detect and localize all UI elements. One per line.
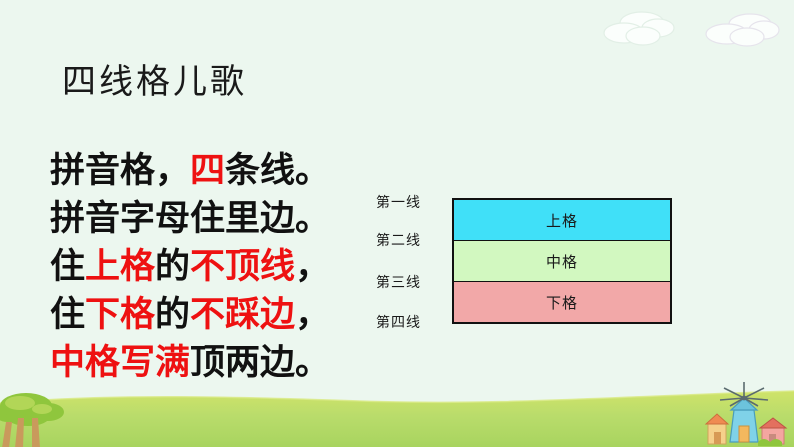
poem-segment: 顶两边。 [190,343,330,382]
grass-strip [0,387,794,447]
grid-line-label-2: 第二线 [376,234,421,250]
poem-segment: ， [295,247,330,286]
grid-line-label-3: 第三线 [376,276,421,292]
slide-canvas: 四线格儿歌 拼音格，四条线。 拼音字母住里边。 住上格的不顶线， 住下格的不踩边… [0,0,794,447]
band-cell-middle: 中格 [453,241,671,282]
band-cell-lower: 下格 [453,282,671,324]
poem-segment-highlight: 下格 [85,295,155,334]
poem-line-5: 中格写满顶两边。 [50,339,390,387]
poem-line-4: 住下格的不踩边， [50,291,390,339]
poem-segment-highlight: 中格写满 [50,343,190,382]
poem-segment: 住 [50,247,85,286]
grid-bands-table: 上格 中格 下格 [452,198,672,324]
poem-segment-highlight: 四 [190,151,225,190]
poem-segment: ， [295,295,330,334]
grid-line-label-1: 第一线 [376,196,421,212]
poem-block: 拼音格，四条线。 拼音字母住里边。 住上格的不顶线， 住下格的不踩边， 中格写满… [50,147,390,387]
tree-illustration [0,382,88,447]
cloud-icon-left [598,6,682,55]
poem-segment: 的 [155,247,190,286]
table-row: 中格 [453,241,671,282]
grid-line-label-4: 第四线 [376,316,421,332]
windmill-village-illustration [700,376,794,447]
table-row: 上格 [453,199,671,241]
cloud-icon-right [700,8,784,57]
page-title: 四线格儿歌 [62,63,247,103]
poem-segment: 住 [50,295,85,334]
table-row: 下格 [453,282,671,324]
poem-line-3: 住上格的不顶线， [50,243,390,291]
poem-segment: 拼音字母住里边。 [50,199,330,238]
poem-line-1: 拼音格，四条线。 [50,147,390,195]
poem-segment-highlight: 不踩边 [190,295,295,334]
poem-segment: 拼音格， [50,151,190,190]
poem-segment: 的 [155,295,190,334]
poem-segment-highlight: 上格 [85,247,155,286]
poem-segment-highlight: 不顶线 [190,247,295,286]
poem-line-2: 拼音字母住里边。 [50,195,390,243]
four-line-grid-diagram: 第一线 第二线 第三线 第四线 上格 中格 下格 [376,192,676,332]
poem-segment: 条线。 [225,151,330,190]
band-cell-upper: 上格 [453,199,671,241]
